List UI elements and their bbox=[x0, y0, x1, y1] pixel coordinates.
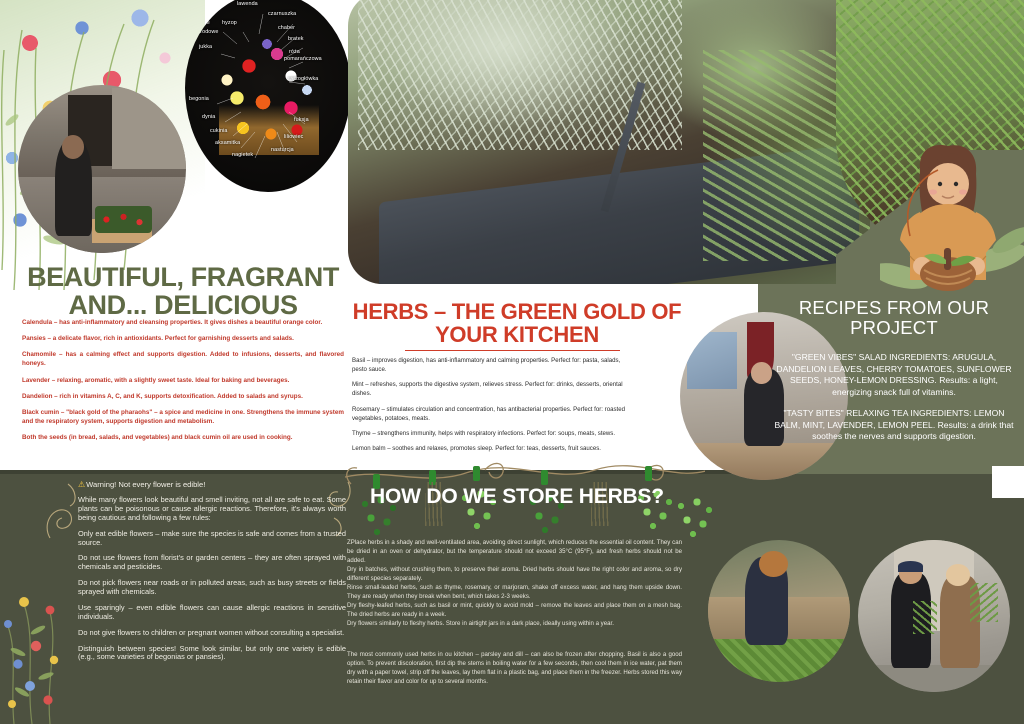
diagram-label: fuksja bbox=[294, 117, 309, 123]
diagram-label: czarnuszka bbox=[268, 11, 296, 17]
diagram-label: pomarańczowa bbox=[284, 56, 322, 62]
diagram-label: róża bbox=[289, 49, 300, 55]
gardener-woman-illustration bbox=[880, 140, 1024, 300]
diagram-label: cukinia bbox=[210, 128, 227, 134]
flower-basket-diagram: lawenda czarnuszka chaber bratek róże og… bbox=[185, 0, 351, 192]
diagram-label: nagietek bbox=[232, 152, 253, 158]
page-title-middle: HERBS – THE GREEN GOLD OF YOUR KITCHEN bbox=[352, 300, 682, 346]
paragraph: ZPlace herbs in a shady and well-ventila… bbox=[347, 538, 682, 565]
diagram-label: begonia bbox=[189, 96, 209, 102]
potted-plant-left bbox=[913, 601, 937, 634]
storage-freezing-note: The most commonly used herbs in ou kitch… bbox=[347, 650, 682, 687]
recipes-panel-title: RECIPES FROM OUR PROJECT bbox=[772, 298, 1016, 338]
diagram-label: jukka bbox=[199, 44, 212, 50]
corner-notch bbox=[992, 466, 1024, 498]
wall bbox=[112, 88, 186, 169]
paragraph: Chamomile – has a calming effect and sup… bbox=[22, 350, 344, 368]
clothespin bbox=[541, 470, 548, 485]
student-digging-photo bbox=[708, 540, 850, 682]
person-head bbox=[759, 551, 787, 577]
warning-triangle-icon: ⚠ bbox=[78, 480, 85, 489]
diagram-label: ogrodowe bbox=[194, 29, 218, 35]
middle-column-body: Basil – improves digestion, has anti-inf… bbox=[352, 356, 630, 459]
warning-heading: ⚠Warning! Not every flower is edible! bbox=[78, 480, 348, 489]
diagram-label: róże bbox=[199, 20, 210, 26]
recipe-item: "GREEN VIBES" SALAD INGREDIENTS: ARUGULA… bbox=[772, 352, 1016, 398]
pavement bbox=[858, 665, 1010, 692]
poster-canvas: lawenda czarnuszka chaber bratek róże og… bbox=[0, 0, 1024, 724]
warning-heading-text: Warning! Not every flower is edible! bbox=[86, 480, 205, 489]
diagram-label: dynia bbox=[202, 114, 215, 120]
students-planting-photo bbox=[18, 85, 186, 253]
page-title-left: BEAUTIFUL, FRAGRANT AND... DELICIOUS bbox=[22, 264, 344, 319]
warning-body: While many flowers look beautiful and sm… bbox=[78, 496, 346, 669]
paragraph: Rinse small-leafed herbs, such as thyme,… bbox=[347, 583, 682, 601]
paragraph: Basil – improves digestion, has anti-inf… bbox=[352, 356, 630, 374]
scribble-decoration bbox=[44, 478, 82, 544]
paragraph: Both the seeds (in bread, salads, and ve… bbox=[22, 433, 344, 442]
diagram-label: chaber bbox=[278, 25, 295, 31]
recipes-panel-body: "GREEN VIBES" SALAD INGREDIENTS: ARUGULA… bbox=[772, 352, 1016, 453]
diagram-label: hyzop bbox=[222, 20, 237, 26]
paragraph: Rosemary – stimulates circulation and co… bbox=[352, 405, 630, 423]
paragraph: Thyme – strengthens immunity, helps with… bbox=[352, 429, 630, 438]
person-head bbox=[62, 135, 84, 159]
recipe-item: "TASTY BITES" RELAXING TEA INGREDIENTS: … bbox=[772, 408, 1016, 443]
paragraph: Do not give flowers to children or pregn… bbox=[78, 629, 346, 638]
paragraph: Calendula – has anti-inflammatory and cl… bbox=[22, 318, 344, 327]
paragraph: Lavender – relaxing, aromatic, with a sl… bbox=[22, 376, 344, 385]
bandana bbox=[898, 561, 924, 572]
left-flora-decoration bbox=[2, 560, 88, 724]
clothespin bbox=[473, 466, 480, 481]
paragraph: Only eat edible flowers – make sure the … bbox=[78, 530, 346, 548]
paragraph: Use sparingly – even edible flowers can … bbox=[78, 604, 346, 622]
window bbox=[687, 332, 737, 389]
silver-foliage bbox=[358, 0, 682, 150]
diagram-label: liliowiec bbox=[284, 134, 303, 140]
diagram-label: nasturcja bbox=[271, 147, 294, 153]
paragraph: Dry flowers similarly to fleshy herbs. S… bbox=[347, 619, 682, 628]
title-underline bbox=[405, 350, 620, 351]
paragraph: Black cumin – "black gold of the pharaoh… bbox=[22, 408, 344, 426]
paragraph: Pansies – a delicate flavor, rich in ant… bbox=[22, 334, 344, 343]
paragraph: While many flowers look beautiful and sm… bbox=[78, 496, 346, 523]
potted-plant-right bbox=[970, 583, 997, 623]
red-flowers bbox=[95, 206, 152, 233]
paragraph: Dandelion – rich in vitamins A, C, and K… bbox=[22, 392, 344, 401]
diagram-label: aksamitka bbox=[215, 140, 240, 146]
paragraph: Do not use flowers from florist's or gar… bbox=[78, 554, 346, 572]
person-two-head bbox=[946, 564, 970, 585]
paragraph: Dry fleshy-leafed herbs, such as basil o… bbox=[347, 601, 682, 619]
paragraph: Distinguish between species! Some look s… bbox=[78, 645, 346, 663]
diagram-label: lawenda bbox=[237, 1, 258, 7]
left-column-body: Calendula – has anti-inflammatory and cl… bbox=[22, 318, 344, 449]
diagram-label: bratek bbox=[288, 36, 304, 42]
paragraph: Dry in batches, without crushing them, t… bbox=[347, 565, 682, 583]
lettuce-rows bbox=[708, 639, 850, 682]
diagram-label: wężogłówka bbox=[288, 76, 318, 82]
storage-section-title: HOW DO WE STORE HERBS? bbox=[352, 486, 682, 508]
raised-bed-garden-photo bbox=[348, 0, 870, 284]
paragraph: Do not pick flowers near roads or in pol… bbox=[78, 579, 346, 597]
storage-section-body: ZPlace herbs in a shady and well-ventila… bbox=[347, 538, 682, 628]
clothespin bbox=[645, 466, 652, 481]
paragraph: Lemon balm – soothes and relaxes, promot… bbox=[352, 444, 630, 453]
paragraph: Mint – refreshes, supports the digestive… bbox=[352, 380, 630, 398]
students-with-plants-photo bbox=[858, 540, 1010, 692]
